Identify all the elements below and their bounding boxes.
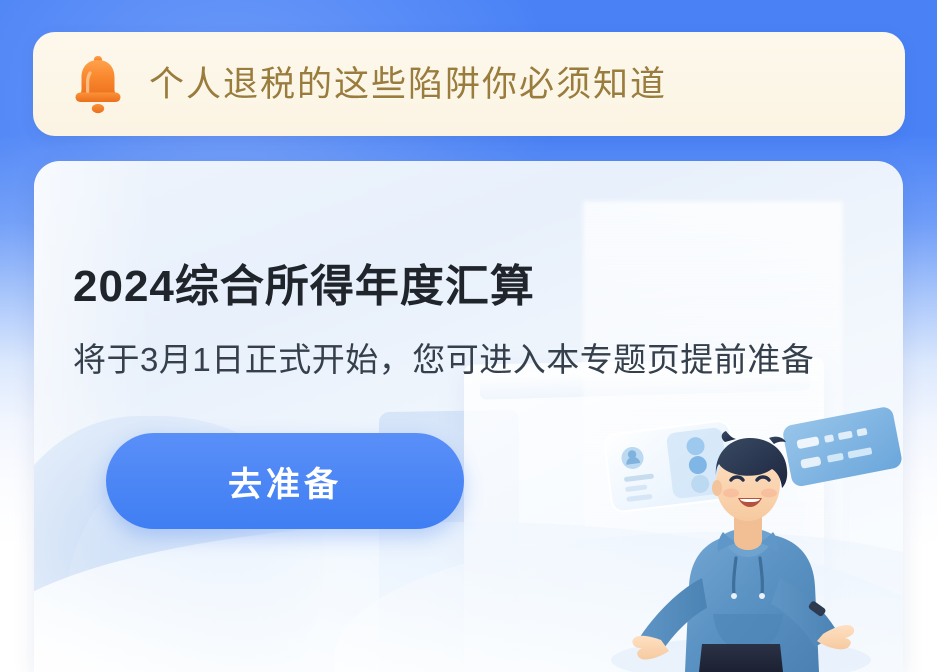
annual-settlement-card[interactable]: 2024综合所得年度汇算 将于3月1日正式开始，您可进入本专题页提前准备 去准备 (34, 161, 903, 672)
app-root: 个人退税的这些陷阱你必须知道 (0, 0, 937, 672)
notice-text: 个人退税的这些陷阱你必须知道 (149, 67, 667, 102)
notice-banner[interactable]: 个人退税的这些陷阱你必须知道 (33, 32, 905, 136)
hero-subtitle: 将于3月1日正式开始，您可进入本专题页提前准备 (73, 343, 814, 376)
page-title: 2024综合所得年度汇算 (73, 265, 535, 309)
go-prepare-button[interactable]: 去准备 (106, 433, 464, 529)
hero-copy: 2024综合所得年度汇算 将于3月1日正式开始，您可进入本专题页提前准备 去准备 (73, 161, 903, 672)
bell-icon (69, 53, 127, 115)
